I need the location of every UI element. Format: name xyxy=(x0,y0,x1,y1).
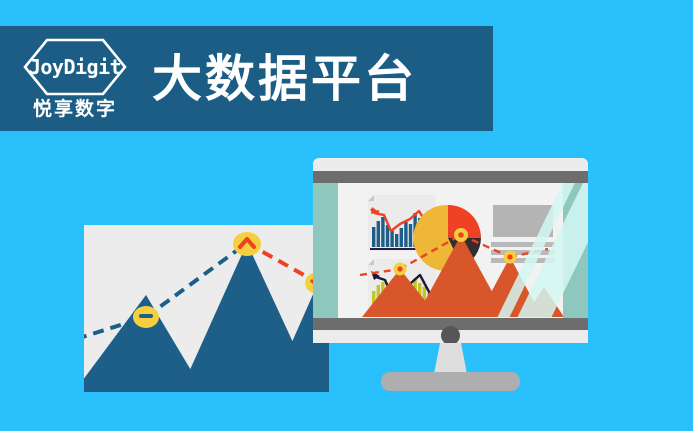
brand-logo: JoyDigit 悦享数字 xyxy=(16,35,134,123)
monitor-screen xyxy=(313,183,588,318)
logo-latin-text: JoyDigit xyxy=(29,57,121,77)
monitor-power-dot xyxy=(441,326,460,345)
logo-chinese-text: 悦享数字 xyxy=(33,100,117,119)
header-banner: JoyDigit 悦享数字 大数据平台 xyxy=(0,26,493,131)
blue-mountain-chart xyxy=(84,225,329,392)
desktop-monitor xyxy=(313,158,588,390)
poster-canvas: JoyDigit 悦享数字 大数据平台 xyxy=(0,0,693,431)
hexagon-icon: JoyDigit xyxy=(19,38,131,96)
mountain-shapes xyxy=(84,243,329,392)
monitor-stand-base xyxy=(381,372,520,391)
monitor-top-bezel xyxy=(313,171,588,183)
monitor-stand-neck xyxy=(434,343,467,374)
page-title: 大数据平台 xyxy=(152,54,417,104)
trend-line-dashed xyxy=(84,243,329,339)
screen-left-band xyxy=(313,183,338,318)
